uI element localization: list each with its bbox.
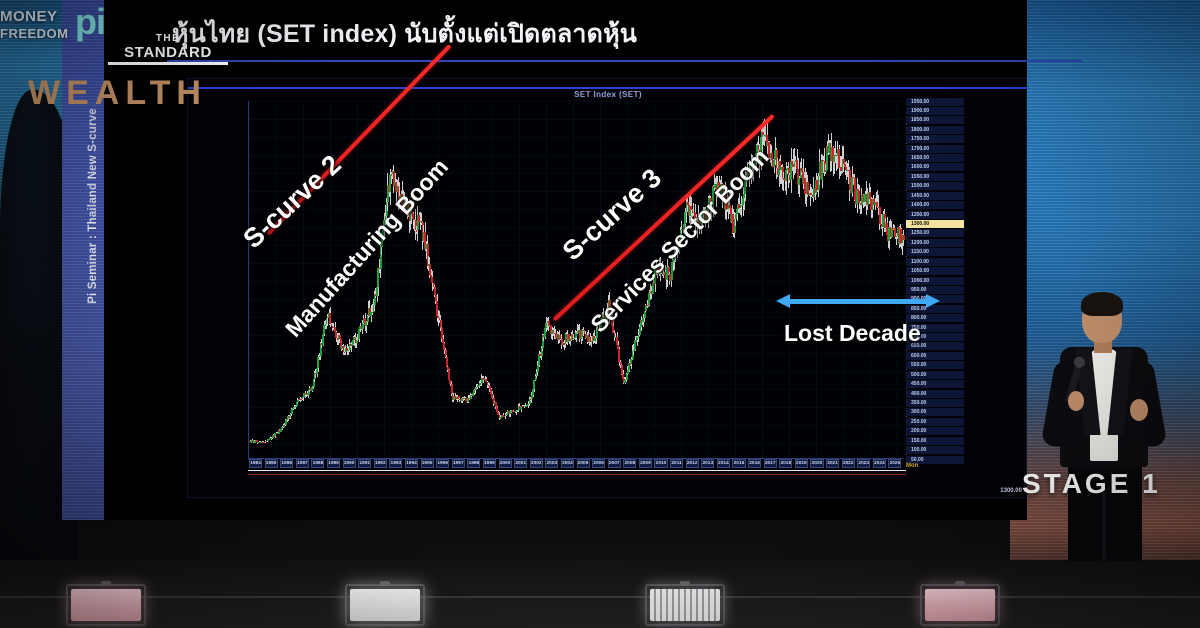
x-axis-tick: 1984: [249, 459, 262, 468]
y-axis-tick: 1750.00: [906, 134, 964, 143]
y-axis-tick: 350.00: [906, 398, 964, 407]
y-axis-tick: 1800.00: [906, 125, 964, 134]
stage-light-2: [345, 584, 425, 626]
speaker-hair: [1081, 292, 1123, 316]
x-axis-tick: 2003: [545, 459, 558, 468]
x-axis-tick: 1994: [405, 459, 418, 468]
y-axis-tick: 1200.00: [906, 238, 964, 247]
x-axis-tick: 1986: [280, 459, 293, 468]
x-axis-tick: 2009: [639, 459, 652, 468]
x-axis-tick: 2012: [686, 459, 699, 468]
x-axis-tick: 2021: [826, 459, 839, 468]
y-axis-tick: 950.00: [906, 285, 964, 294]
y-axis-tick: 1400.00: [906, 200, 964, 209]
y-axis-tick: 200.00: [906, 426, 964, 435]
watermark-money-line2: FREEDOM: [0, 25, 72, 42]
candlestick: [903, 100, 905, 458]
x-axis-tick: 1996: [436, 459, 449, 468]
y-axis-tick: 300.00: [906, 407, 964, 416]
arrow-shaft: [788, 299, 928, 304]
network-logo-line1: THE: [108, 33, 228, 44]
stage-floor-edge: [0, 596, 1200, 598]
x-axis-tick: 2014: [717, 459, 730, 468]
y-axis-tick: 1700.00: [906, 144, 964, 153]
title-divider: [167, 60, 1082, 62]
stage-label: STAGE 1: [1022, 468, 1161, 500]
y-axis-tick: 1550.00: [906, 172, 964, 181]
y-axis-tick: 1600.00: [906, 162, 964, 171]
x-axis-tail-label: Mon: [906, 463, 918, 469]
x-axis-tick: 2004: [561, 459, 574, 468]
annotation-lost-decade: Lost Decade: [784, 320, 921, 347]
x-axis-tick: 2007: [608, 459, 621, 468]
y-axis-tick: 1650.00: [906, 153, 964, 162]
y-axis-tick: 1300.00: [906, 219, 964, 228]
x-axis-tick: 2020: [810, 459, 823, 468]
lost-decade-arrow: [776, 294, 940, 308]
x-axis-tick: 2010: [654, 459, 667, 468]
arrow-head-right-icon: [926, 294, 940, 308]
y-axis-tick: 1500.00: [906, 181, 964, 190]
x-axis-tick: 1998: [467, 459, 480, 468]
y-axis: 1950.001900.001850.001800.001750.001700.…: [906, 101, 964, 459]
chart-title: SET Index (SET): [188, 90, 1028, 99]
candlestick-body: [903, 235, 905, 240]
x-axis-rule-secondary: [248, 474, 906, 475]
x-axis-rule: [248, 470, 906, 471]
x-axis-tick: 1988: [311, 459, 324, 468]
x-axis-tick: 2001: [514, 459, 527, 468]
x-axis-tick: 2017: [764, 459, 777, 468]
y-axis-tick: 1450.00: [906, 191, 964, 200]
speaker-hand-right: [1130, 399, 1148, 421]
x-axis-tick: 2018: [779, 459, 792, 468]
x-axis-tick: 2023: [857, 459, 870, 468]
watermark-money-freedom: MONEY FREEDOM: [0, 8, 72, 42]
y-axis-tick: 1850.00: [906, 115, 964, 124]
x-axis-tick: 2006: [592, 459, 605, 468]
x-axis-tick: 2022: [842, 459, 855, 468]
x-axis-tick: 1993: [389, 459, 402, 468]
speaker-leg-split: [1102, 491, 1106, 561]
x-axis-tick: 1997: [452, 459, 465, 468]
y-axis-tick: 250.00: [906, 417, 964, 426]
y-axis-tick: 550.00: [906, 360, 964, 369]
x-axis-tick: 2019: [795, 459, 808, 468]
y-axis-tick: 1100.00: [906, 257, 964, 266]
x-axis-tick: 2015: [732, 459, 745, 468]
stage-floor: [0, 560, 1200, 628]
x-axis-tick: 2000: [499, 459, 512, 468]
x-axis-tick: 2008: [623, 459, 636, 468]
x-axis-tick: 1985: [265, 459, 278, 468]
pi-logo: pi: [70, 2, 110, 46]
x-axis-tick: 1992: [374, 459, 387, 468]
y-axis-tick: 450.00: [906, 379, 964, 388]
x-axis-tick: 2002: [530, 459, 543, 468]
y-axis-tick: 1050.00: [906, 266, 964, 275]
x-axis-tick: 2024: [873, 459, 886, 468]
watermark-money-line1: MONEY: [0, 8, 72, 25]
y-axis-tick: 1150.00: [906, 247, 964, 256]
x-axis-tick: 1990: [343, 459, 356, 468]
network-logo: THE STANDARD: [108, 33, 228, 65]
program-logo: WEALTH: [28, 74, 207, 113]
x-axis-tick: 1987: [296, 459, 309, 468]
stage-light-3: [645, 584, 725, 626]
y-axis-tick: 150.00: [906, 436, 964, 445]
x-axis-tick: 2016: [748, 459, 761, 468]
stage-light-1: [66, 584, 146, 626]
y-axis-tick: 1250.00: [906, 228, 964, 237]
y-axis-tick: 1900.00: [906, 106, 964, 115]
y-axis-last-price: 1300.00: [1000, 488, 1022, 494]
chart-top-rule: [188, 87, 1028, 89]
stage-light-4: [920, 584, 1000, 626]
x-axis-tick: 2005: [577, 459, 590, 468]
x-axis-tick: 1991: [358, 459, 371, 468]
broadcast-frame: Pi Seminar : Thailand New S-curve pi หุ้…: [0, 0, 1200, 628]
x-axis-tick: 2011: [670, 459, 683, 468]
y-axis-tick: 1950.00: [906, 97, 964, 106]
y-axis-tick: 400.00: [906, 389, 964, 398]
speaker-presenter: [1042, 295, 1182, 560]
x-axis-tick: 2013: [701, 459, 714, 468]
page-title: หุ้นไทย (SET index) นับตั้งแต่เปิดตลาดหุ…: [172, 14, 892, 54]
y-axis-tick: 100.00: [906, 445, 964, 454]
x-axis-tick: 1999: [483, 459, 496, 468]
x-axis-tick: 1995: [421, 459, 434, 468]
x-axis-tick: 1989: [327, 459, 340, 468]
y-axis-tick: 500.00: [906, 370, 964, 379]
network-logo-line2: STANDARD: [108, 44, 228, 65]
speaker-hand-left: [1068, 391, 1084, 411]
y-axis-tick: 1000.00: [906, 276, 964, 285]
x-axis-tick: 2025: [888, 459, 901, 468]
y-axis-tick: 600.00: [906, 351, 964, 360]
y-axis-tick: 1350.00: [906, 210, 964, 219]
